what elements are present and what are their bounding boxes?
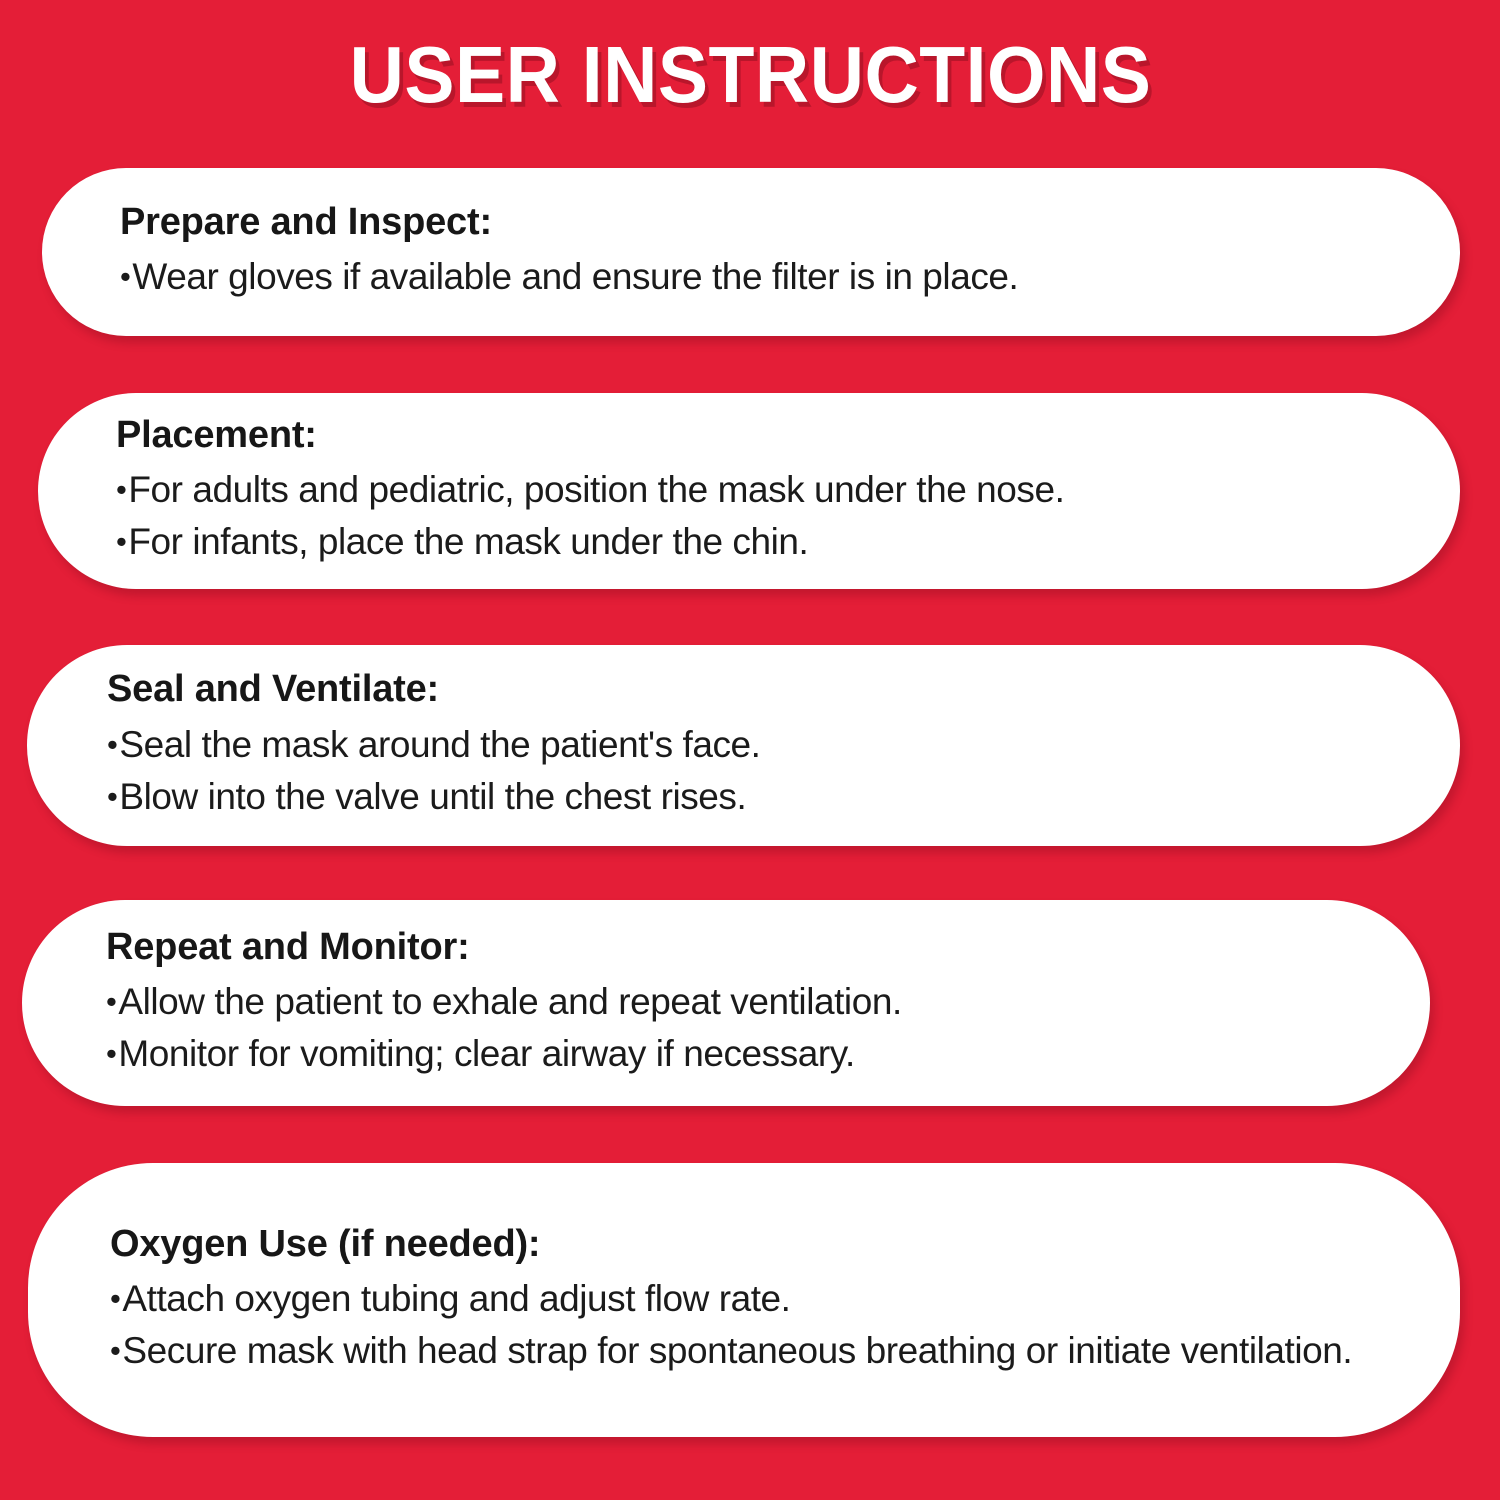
list-item: •For adults and pediatric, position the … (116, 464, 1400, 516)
list-item: •Monitor for vomiting; clear airway if n… (106, 1028, 1370, 1080)
card-heading: Oxygen Use (if needed): (110, 1223, 1405, 1266)
bullet-icon: • (116, 526, 126, 557)
list-item-text: Seal the mask around the patient's face. (119, 724, 760, 765)
list-item: •Allow the patient to exhale and repeat … (106, 976, 1370, 1028)
instruction-card-seal-and-ventilate: Seal and Ventilate: •Seal the mask aroun… (27, 645, 1460, 846)
poster-header: USER INSTRUCTIONS (0, 0, 1500, 150)
list-item-text: Attach oxygen tubing and adjust flow rat… (122, 1278, 790, 1319)
list-item: •Secure mask with head strap for spontan… (110, 1325, 1405, 1377)
list-item-text: Monitor for vomiting; clear airway if ne… (118, 1033, 854, 1074)
list-item-text: For adults and pediatric, position the m… (128, 469, 1064, 510)
card-bullet-list: •Wear gloves if available and ensure the… (120, 251, 1400, 303)
instruction-card-placement: Placement: •For adults and pediatric, po… (38, 393, 1460, 589)
instruction-card-repeat-and-monitor: Repeat and Monitor: •Allow the patient t… (22, 900, 1430, 1106)
card-heading: Prepare and Inspect: (120, 201, 1400, 244)
bullet-icon: • (116, 474, 126, 505)
card-bullet-list: •Allow the patient to exhale and repeat … (106, 976, 1370, 1080)
bullet-icon: • (107, 781, 117, 812)
list-item-text: Allow the patient to exhale and repeat v… (118, 981, 901, 1022)
card-heading: Repeat and Monitor: (106, 926, 1370, 969)
card-content: Seal and Ventilate: •Seal the mask aroun… (27, 668, 1460, 822)
instructions-poster: USER INSTRUCTIONS Prepare and Inspect: •… (0, 0, 1500, 1500)
list-item-text: Secure mask with head strap for spontane… (122, 1330, 1352, 1371)
card-content: Oxygen Use (if needed): •Attach oxygen t… (28, 1223, 1460, 1377)
card-bullet-list: •Seal the mask around the patient's face… (107, 719, 1400, 823)
list-item: •Blow into the valve until the chest ris… (107, 771, 1400, 823)
bullet-icon: • (110, 1283, 120, 1314)
bullet-icon: • (106, 1038, 116, 1069)
card-bullet-list: •For adults and pediatric, position the … (116, 464, 1400, 568)
instruction-card-prepare-and-inspect: Prepare and Inspect: •Wear gloves if ava… (42, 168, 1460, 336)
instruction-card-oxygen-use: Oxygen Use (if needed): •Attach oxygen t… (28, 1163, 1460, 1437)
card-content: Prepare and Inspect: •Wear gloves if ava… (42, 201, 1460, 303)
bullet-icon: • (107, 729, 117, 760)
card-heading: Seal and Ventilate: (107, 668, 1400, 711)
list-item-text: Wear gloves if available and ensure the … (132, 256, 1018, 297)
list-item-text: For infants, place the mask under the ch… (128, 521, 808, 562)
bullet-icon: • (106, 986, 116, 1017)
card-content: Repeat and Monitor: •Allow the patient t… (22, 926, 1430, 1080)
card-content: Placement: •For adults and pediatric, po… (38, 414, 1460, 568)
bullet-icon: • (110, 1335, 120, 1366)
list-item: •Attach oxygen tubing and adjust flow ra… (110, 1273, 1405, 1325)
card-heading: Placement: (116, 414, 1400, 457)
card-bullet-list: •Attach oxygen tubing and adjust flow ra… (110, 1273, 1405, 1377)
list-item: •Seal the mask around the patient's face… (107, 719, 1400, 771)
list-item: •Wear gloves if available and ensure the… (120, 251, 1400, 303)
bullet-icon: • (120, 261, 130, 292)
list-item: •For infants, place the mask under the c… (116, 516, 1400, 568)
page-title: USER INSTRUCTIONS (349, 35, 1151, 115)
list-item-text: Blow into the valve until the chest rise… (119, 776, 746, 817)
